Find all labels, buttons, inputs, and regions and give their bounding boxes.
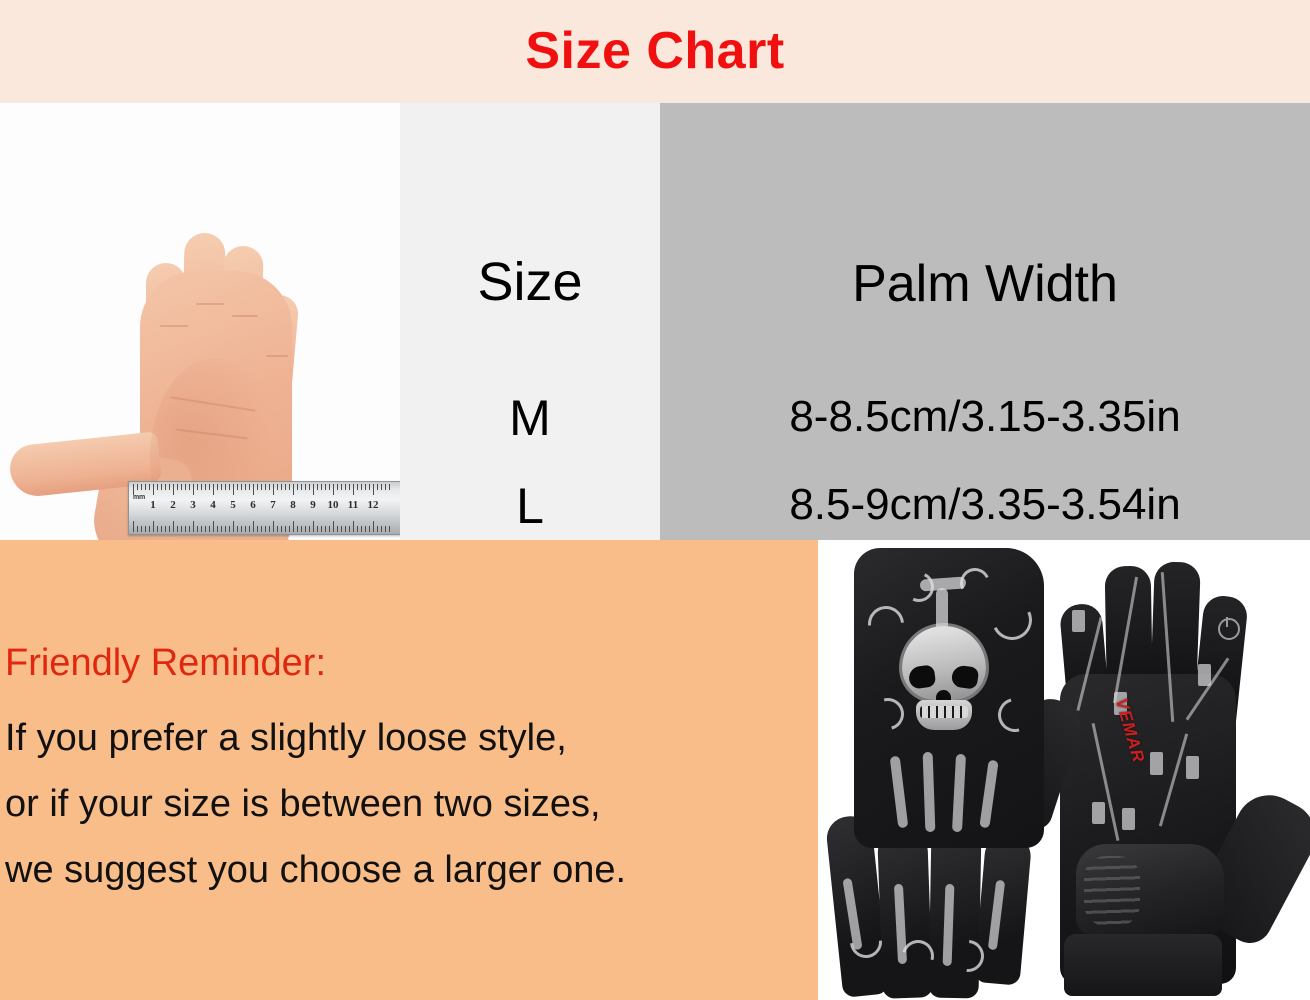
palm-width-column: Palm Width 8-8.5cm/3.15-3.35in 8.5-9cm/3… [660,103,1310,540]
circuit-chip [1186,756,1199,779]
ruler-numbers: 123456789101112 [129,499,400,517]
column-header-palm-width: Palm Width [660,258,1310,310]
size-column: Size M L XL [400,103,660,540]
glove-cuff [1064,934,1222,996]
tribal-stroke [936,588,948,636]
finger-crease [196,303,224,305]
glove-finger [877,829,933,999]
reminder-line: or if your size is between two sizes, [5,782,601,826]
column-header-size: Size [400,255,660,309]
size-chart-page: Size Chart mm 123456789101112 [0,0,1310,1000]
hand-palm-measure-photo: mm 123456789101112 Palm Width [0,103,400,540]
circuit-chip [1150,752,1163,775]
circuit-chip [1092,802,1105,824]
table-row: M [400,393,660,443]
circuit-chip [1072,610,1085,632]
title-band: Size Chart [0,0,1310,103]
skull-graphic [892,626,996,744]
finger-crease [232,315,258,317]
size-table: Size M L XL Palm Width 8-8.5cm/3.15-3.35… [400,103,1310,540]
table-row: 8.5-9cm/3.35-3.54in [660,483,1310,527]
finger-crease [266,355,288,357]
glove-pad-ribs [1084,856,1140,926]
reminder-heading: Friendly Reminder: [5,641,326,685]
page-title: Size Chart [0,20,1310,82]
reminder-line: we suggest you choose a larger one. [5,848,626,892]
reminder-line: If you prefer a slightly loose style, [5,716,567,760]
glove-palm-side: VEMAR [1040,556,1298,996]
glove-back-side [832,548,1060,998]
circuit-chip [1122,808,1135,830]
ruler-ticks-bottom [129,520,400,532]
skull-teeth [920,706,968,718]
table-row: L [400,481,660,531]
skull-cranium [902,626,986,700]
skull-print-gloves-photo: VEMAR [818,540,1310,1000]
ruler: mm 123456789101112 [128,481,400,535]
circuit-chip [1198,664,1211,686]
finger-crease [160,325,188,327]
glove-finger [929,826,982,999]
hand-measure-panel: mm 123456789101112 Palm Width [0,103,400,540]
touchscreen-power-icon [1218,618,1240,640]
table-row: 8-8.5cm/3.15-3.35in [660,395,1310,439]
ruler-ticks-top [129,484,400,496]
